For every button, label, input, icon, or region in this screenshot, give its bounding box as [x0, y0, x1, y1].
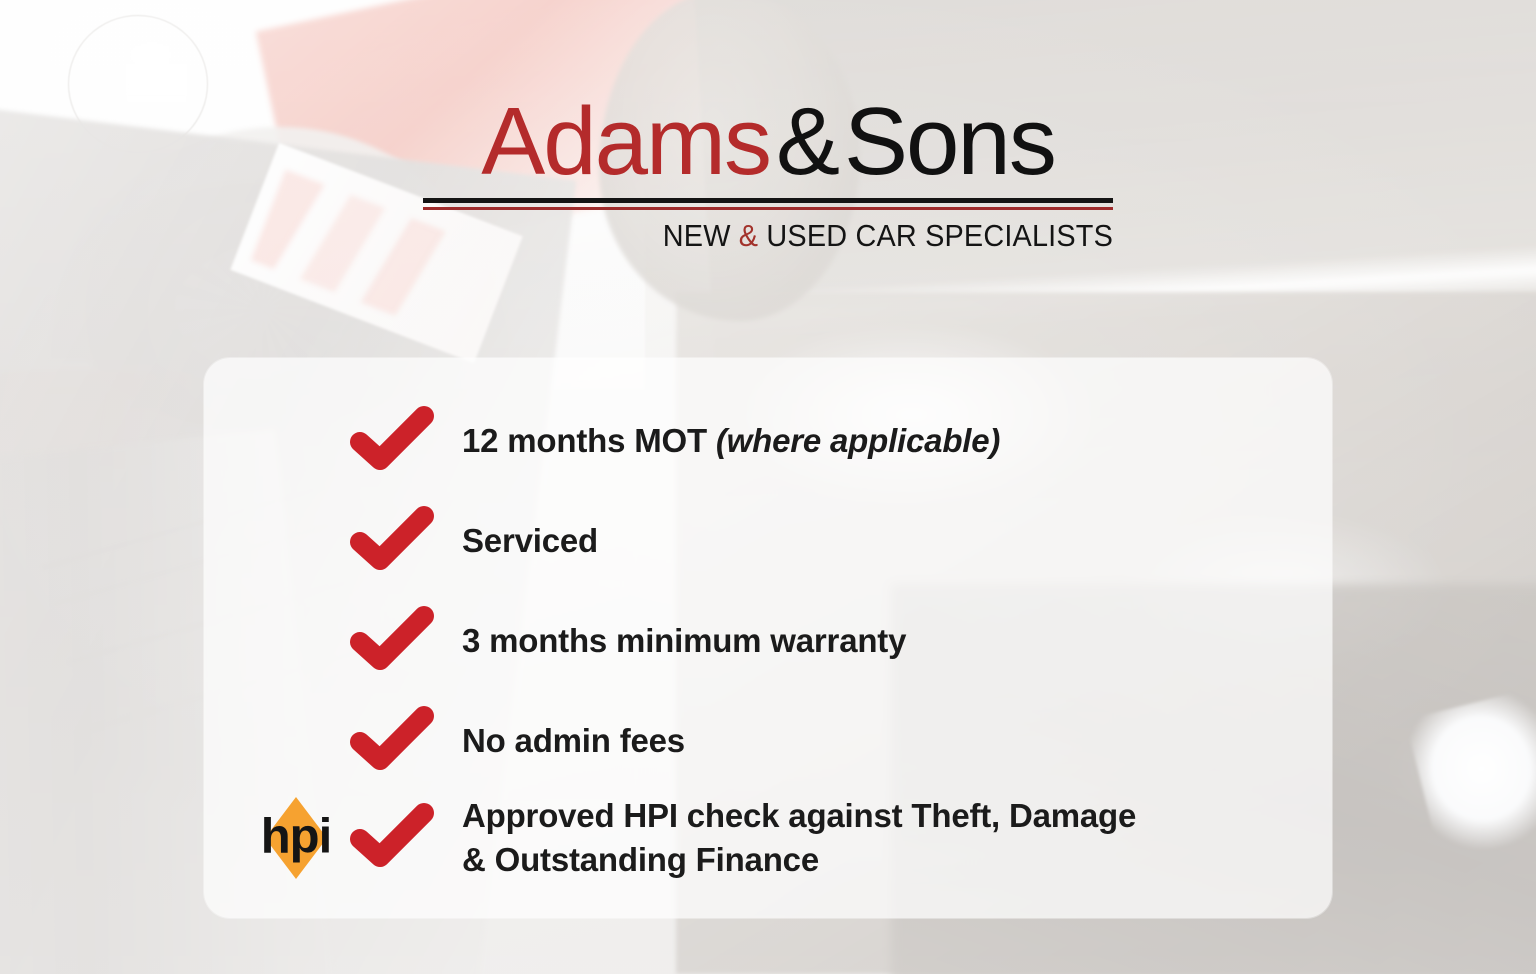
feature-label-note: (where applicable) — [716, 422, 1000, 459]
feature-label-main: 12 months MOT — [462, 422, 716, 459]
feature-label-main: 3 months minimum warranty — [462, 622, 906, 659]
features-panel: 12 months MOT (where applicable) Service… — [204, 358, 1332, 918]
tagline-pre: NEW — [663, 218, 739, 253]
badge-slot: hpi — [234, 792, 344, 884]
red-check-icon — [350, 799, 434, 877]
list-item: 3 months minimum warranty — [234, 602, 906, 680]
feature-label: Serviced — [462, 519, 598, 563]
red-check-icon — [350, 402, 434, 480]
logo-rule-black — [423, 198, 1113, 203]
tagline-post: USED CAR SPECIALISTS — [758, 218, 1113, 253]
list-item: No admin fees — [234, 702, 685, 780]
logo-rule-red — [423, 207, 1113, 210]
feature-list: 12 months MOT (where applicable) Service… — [204, 358, 1332, 918]
feature-label: No admin fees — [462, 719, 685, 763]
brand-logo: Adams&Sons NEW & USED CAR SPECIALISTS — [0, 96, 1536, 254]
logo-tagline: NEW & USED CAR SPECIALISTS — [471, 218, 1113, 254]
feature-label: 3 months minimum warranty — [462, 619, 906, 663]
red-check-icon — [350, 602, 434, 680]
hpi-logo-label: hpi — [248, 813, 344, 862]
feature-label: Approved HPI check against Theft, Damage… — [462, 794, 1136, 881]
logo-wordmark: Adams&Sons — [0, 96, 1536, 188]
feature-label-main: Serviced — [462, 522, 598, 559]
hpi-logo-icon: hpi — [248, 792, 344, 884]
list-item: 12 months MOT (where applicable) — [234, 402, 1000, 480]
red-check-icon — [350, 702, 434, 780]
red-check-icon — [350, 502, 434, 580]
list-item: Serviced — [234, 502, 598, 580]
feature-label-main: No admin fees — [462, 722, 685, 759]
tagline-ampersand: & — [739, 218, 758, 253]
logo-divider-rules — [423, 198, 1113, 210]
feature-label: 12 months MOT (where applicable) — [462, 419, 1000, 463]
logo-word-adams: Adams — [481, 96, 770, 188]
logo-ampersand: & — [770, 96, 844, 188]
logo-word-sons: Sons — [844, 96, 1055, 188]
list-item: hpi Approved HPI check against Theft, Da… — [234, 792, 1136, 884]
promo-banner: Adams&Sons NEW & USED CAR SPECIALISTS 12… — [0, 0, 1536, 974]
feature-label-main: Approved HPI check against Theft, Damage… — [462, 797, 1136, 878]
